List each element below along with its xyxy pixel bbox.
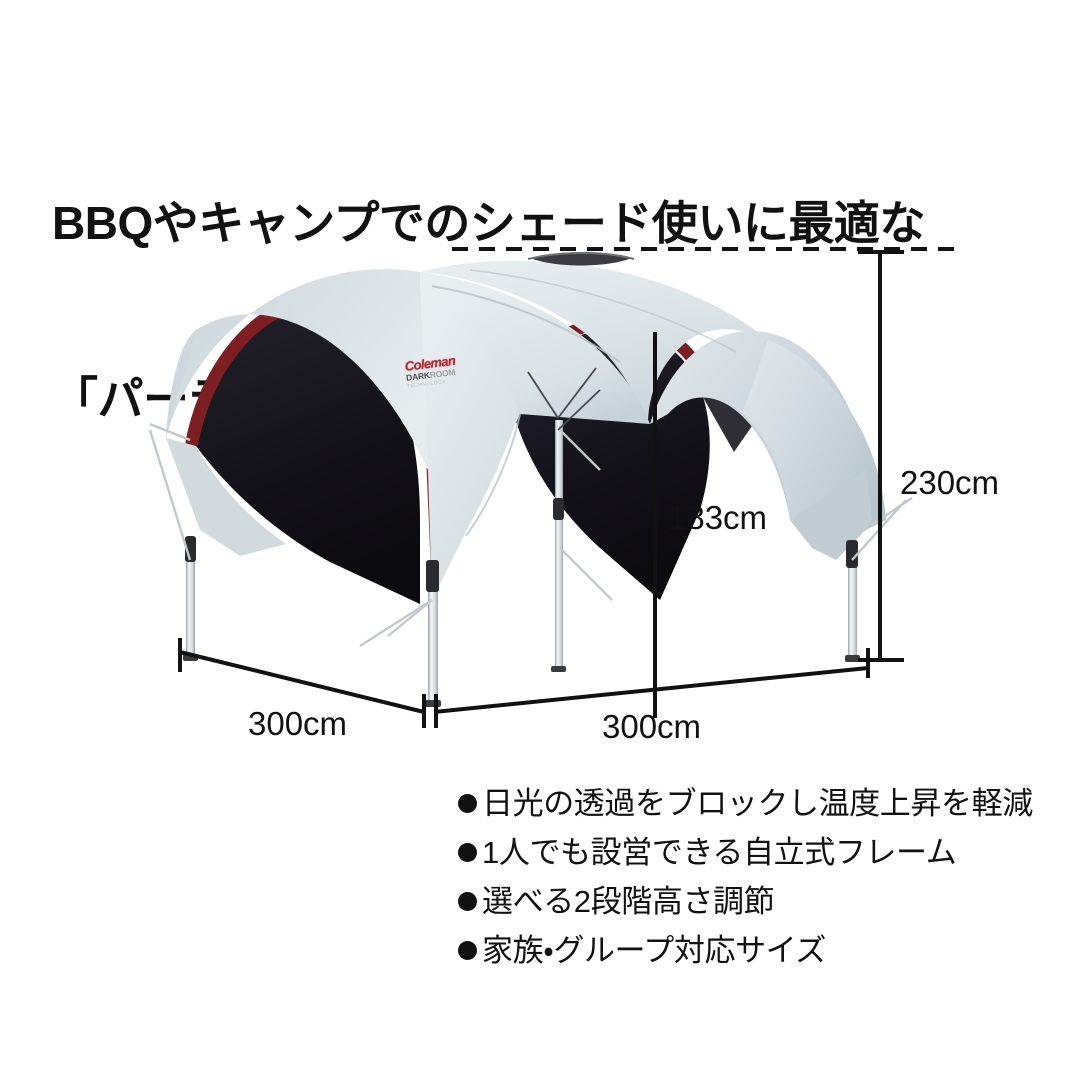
feature-text: 家族・グループ対応サイズ — [482, 933, 826, 968]
dimension-label-height-overall: 230cm — [900, 464, 999, 502]
list-item: 選べる2段階高さ調節 — [458, 886, 1058, 917]
bullet-icon — [458, 892, 477, 911]
list-item: 日光の透過をブロックし温度上昇を軽減 — [458, 788, 1058, 819]
feature-text: 選べる2段階高さ調節 — [482, 884, 774, 919]
bullet-icon — [458, 843, 477, 862]
list-item: 1人でも設営できる自立式フレーム — [458, 837, 1058, 868]
dim-line-width-right — [434, 668, 868, 712]
dimension-label-width-left: 300cm — [248, 705, 347, 743]
product-infographic: BBQやキャンプでのシェード使いに最適な 「パーティシェード」 — [0, 0, 1080, 1080]
tent-graphic — [150, 252, 912, 707]
dimension-label-height-eave: 183cm — [668, 499, 767, 537]
feature-list: 日光の透過をブロックし温度上昇を軽減 1人でも設営できる自立式フレーム 選べる2… — [458, 788, 1058, 984]
feature-text: 1人でも設営できる自立式フレーム — [482, 835, 956, 870]
dimension-label-width-right: 300cm — [602, 708, 701, 746]
leg-left — [183, 536, 198, 661]
bullet-icon — [458, 941, 477, 960]
dim-line-width-left — [180, 652, 424, 712]
bullet-icon — [458, 794, 477, 813]
leg-front-center — [424, 560, 441, 707]
list-item: 家族・グループ対応サイズ — [458, 935, 1058, 966]
feature-text: 日光の透過をブロックし温度上昇を軽減 — [482, 786, 1033, 821]
